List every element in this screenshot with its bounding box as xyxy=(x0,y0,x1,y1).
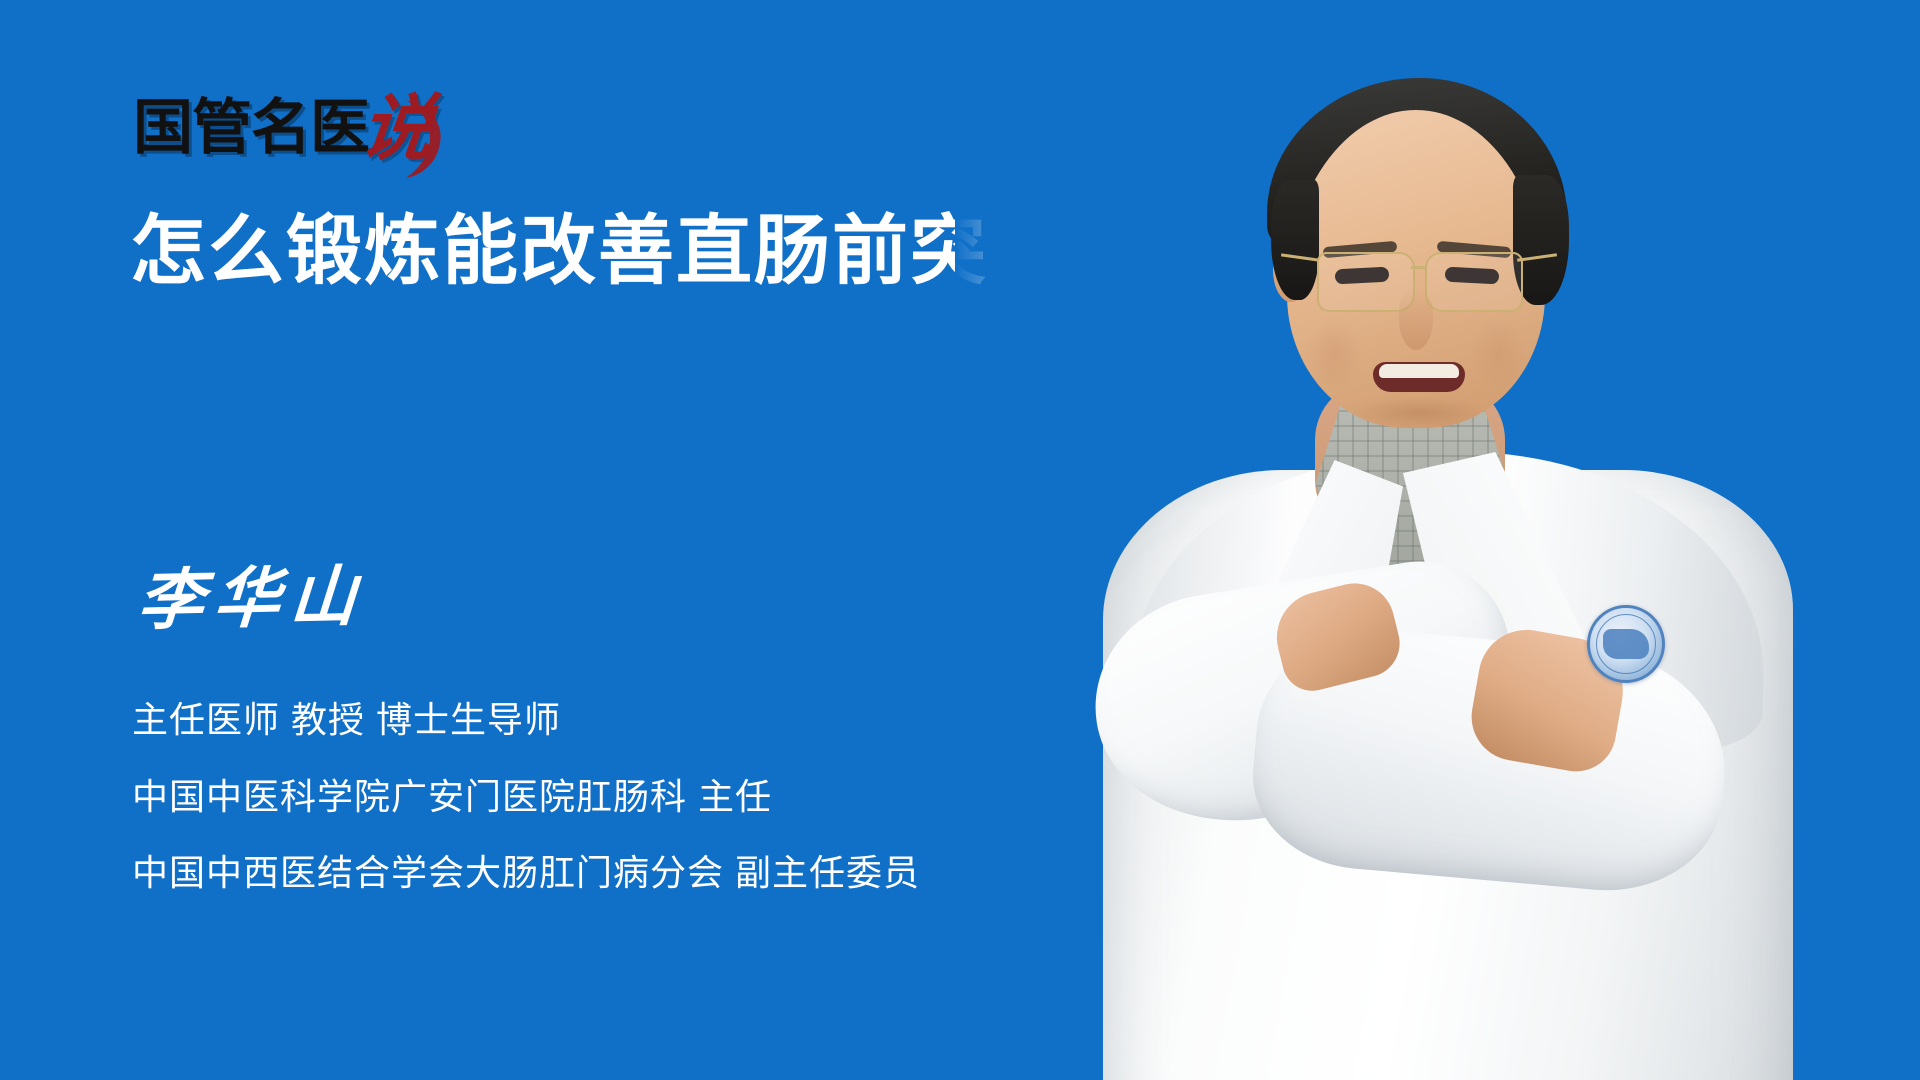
program-logo-accent-text: 说 xyxy=(357,92,437,164)
eyeglasses-lens-right xyxy=(1425,252,1523,312)
nose xyxy=(1399,288,1433,350)
chin-shadow xyxy=(1351,396,1487,430)
cheek-right xyxy=(1471,318,1525,390)
speaker-credentials: 主任医师 教授 博士生导师 中国中医科学院广安门医院肛肠科 主任 中国中西医结合… xyxy=(132,700,920,893)
credential-line-3: 中国中西医结合学会大肠肛门病分会 副主任委员 xyxy=(132,853,920,893)
speaker-name: 李华山 xyxy=(136,563,369,634)
program-logo-main-text: 国管名医 xyxy=(133,98,369,158)
photo-edge-fade-right xyxy=(1810,0,1920,1080)
page-title: 怎么锻炼能改善直肠前突 xyxy=(130,206,988,297)
hair-side-left xyxy=(1271,180,1319,300)
doctor-portrait xyxy=(955,0,1920,1080)
program-logo: 国管名医 说 xyxy=(133,92,433,158)
teeth xyxy=(1379,364,1459,378)
mouth xyxy=(1373,362,1465,392)
credential-line-1: 主任医师 教授 博士生导师 xyxy=(132,700,920,740)
video-title-card: 国管名医 说 怎么锻炼能改善直肠前突 李华山 主任医师 教授 博士生导师 中国中… xyxy=(0,0,1920,1080)
credential-line-2: 中国中医科学院广安门医院肛肠科 主任 xyxy=(132,777,920,817)
badge-emblem-icon xyxy=(1603,629,1649,659)
photo-edge-fade-left xyxy=(955,0,1085,1080)
hospital-emblem-badge xyxy=(1587,605,1665,683)
eyeglasses-bridge xyxy=(1411,266,1427,269)
cheek-left xyxy=(1307,318,1361,390)
